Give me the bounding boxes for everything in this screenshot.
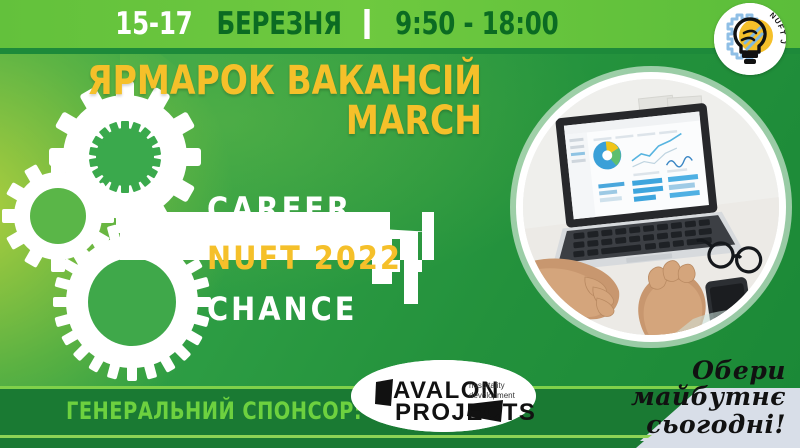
avalon-name-line-2: PROJECTS [395,399,536,426]
page-title: ЯРМАРОК ВАКАНСІЙ MARCH [52,62,482,141]
event-month: БЕРЕЗНЯ [216,9,341,40]
tagline: Обери майбутнє сьогодні! [536,358,786,439]
divider-bar [365,9,370,39]
keyword-chance: CHANCE [200,293,450,325]
keyword-nuft-row: NUFT 2022 [200,235,450,281]
tagline-line-2: сьогодні! [536,411,786,440]
headline-line-1: ЯРМАРОК ВАКАНСІЙ [86,62,482,102]
tagline-line-1: Обери майбутнє [536,358,786,411]
avalon-tagline-line-2: development [469,391,516,400]
headline-line-2: MARCH [86,102,482,142]
keyword-nuft-2022: NUFT 2022 [200,242,402,274]
event-time: 9:50 - 18:00 [395,9,558,40]
keyword-career: CAREER [200,193,450,225]
avalon-projects-logo[interactable]: AVALON PROJECTS hospitality development [351,360,536,432]
laptop-typing-photo [523,79,779,335]
keyword-stack: CAREER NUFT 2022 CHANCE [200,193,450,325]
lightbulb-gear-icon: NUFT JOB [714,3,786,75]
avalon-tagline-line-1: hospitality [469,381,505,390]
event-poster: 15-17 БЕРЕЗНЯ 9:50 - 18:00 [0,0,800,448]
sponsor-label: ГЕНЕРАЛЬНИЙ СПОНСОР: [66,397,362,425]
date-time-line: 15-17 БЕРЕЗНЯ 9:50 - 18:00 [0,0,680,48]
top-bar-separator [0,48,800,54]
laptop-photo-circle [516,72,786,342]
event-dates: 15-17 [115,9,192,40]
nuft-job-logo[interactable]: NUFT JOB [714,3,786,75]
